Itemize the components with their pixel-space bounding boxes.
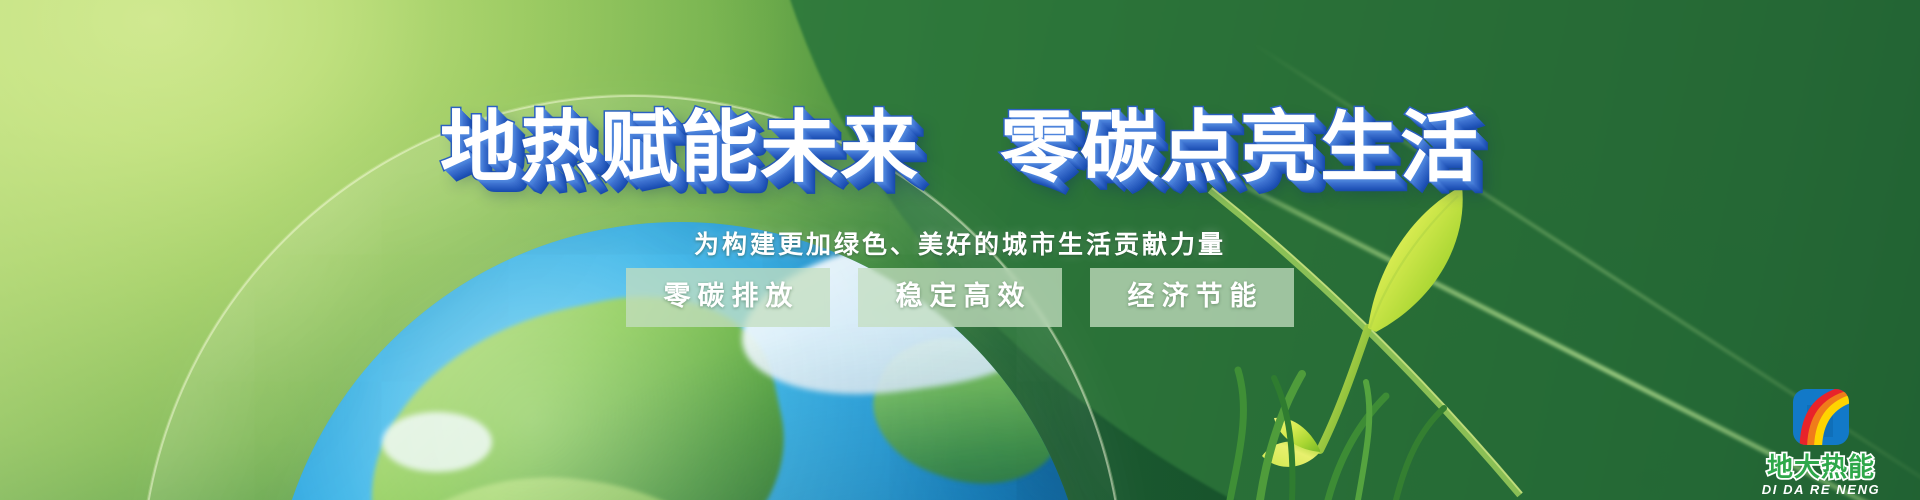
logo-name-cn: 地大热能 <box>1746 454 1896 480</box>
feature-badge-economic-saving[interactable]: 经济节能 <box>1090 268 1294 327</box>
logo-name-en: DI DA RE NENG <box>1746 483 1896 496</box>
grass-tuft-icon <box>1190 330 1470 500</box>
promo-banner: 地热赋能未来 零碳点亮生活 为构建更加绿色、美好的城市生活贡献力量 零碳排放 稳… <box>0 0 1920 500</box>
feature-badge-list: 零碳排放 稳定高效 经济节能 <box>0 268 1920 327</box>
company-logo[interactable]: 地大热能 DI DA RE NENG <box>1746 388 1896 496</box>
banner-subtitle: 为构建更加绿色、美好的城市生活贡献力量 <box>694 225 1226 261</box>
didareneng-rainbow-logo-icon <box>1746 388 1896 451</box>
feature-badge-stable-efficient[interactable]: 稳定高效 <box>858 268 1062 327</box>
feature-badge-zero-carbon[interactable]: 零碳排放 <box>626 268 830 327</box>
